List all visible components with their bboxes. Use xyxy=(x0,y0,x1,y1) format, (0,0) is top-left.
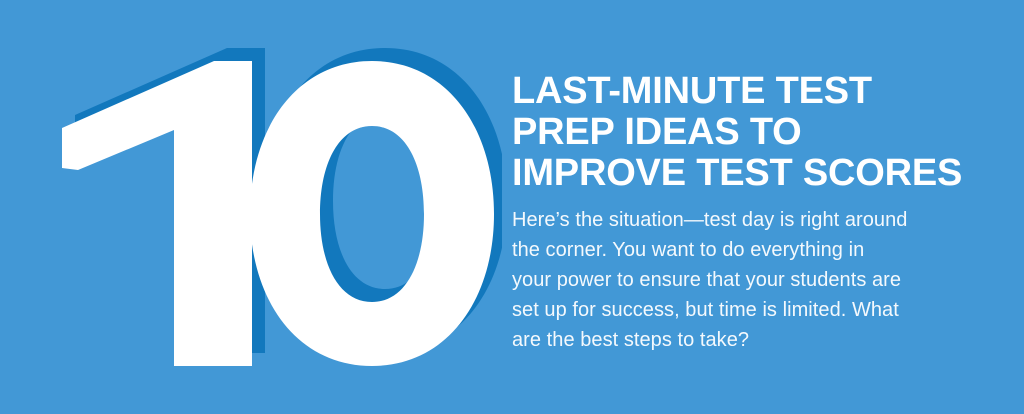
headline-line-2: PREP IDEAS TO xyxy=(512,112,1002,153)
body-line-4: set up for success, but time is limited.… xyxy=(512,295,964,325)
headline-line-1: LAST-MINUTE TEST xyxy=(512,71,1002,112)
numeral-one-face xyxy=(62,61,252,366)
body-line-1: Here’s the situation—test day is right a… xyxy=(512,205,964,235)
numeral-ten-graphic xyxy=(22,18,502,398)
text-block: LAST-MINUTE TEST PREP IDEAS TO IMPROVE T… xyxy=(512,0,1012,414)
promo-banner: LAST-MINUTE TEST PREP IDEAS TO IMPROVE T… xyxy=(0,0,1024,414)
body-line-5: are the best steps to take? xyxy=(512,325,964,355)
body-line-3: your power to ensure that your students … xyxy=(512,265,964,295)
numeral-face-layer xyxy=(62,61,494,366)
numeral-zero-face xyxy=(250,61,494,366)
body-line-2: the corner. You want to do everything in xyxy=(512,235,964,265)
numeral-ten xyxy=(22,18,502,398)
headline: LAST-MINUTE TEST PREP IDEAS TO IMPROVE T… xyxy=(512,71,1002,194)
headline-line-3: IMPROVE TEST SCORES xyxy=(512,153,1002,194)
numeral-block xyxy=(0,0,500,414)
body-copy: Here’s the situation—test day is right a… xyxy=(512,205,964,355)
